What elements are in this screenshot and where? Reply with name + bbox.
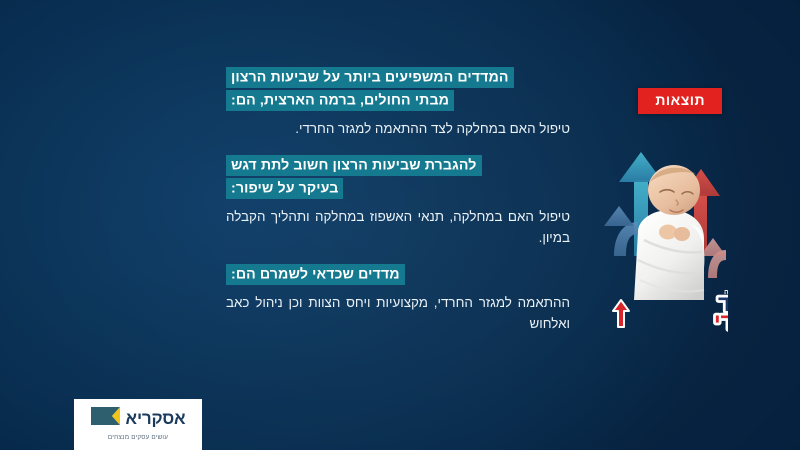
heading-highlight-line: המדדים המשפיעים ביותר על שביעות הרצון [226,67,514,88]
section-body: ההתאמה למגזר החרדי, מקצועיות ויחס הצוות … [226,293,570,334]
section-block: להגברת שביעות הרצון חשוב לתת דגש בעיקר ע… [226,154,570,248]
askaria-tagline: עושים עסקים מנצחים [108,435,168,441]
section-block: המדדים המשפיעים ביותר על שביעות הרצון מב… [226,66,570,139]
baby-arrows-artwork [586,128,744,300]
section-body: טיפול האם במחלקה לצד ההתאמה למגזר החרדי. [226,119,570,139]
section-heading: להגברת שביעות הרצון חשוב לתת דגש בעיקר ע… [226,154,570,200]
heading-highlight-line: מדדים שכדאי לשמרם הם: [226,264,405,285]
svg-text:החרדי: החרדי [714,309,728,333]
section-block: מדדים שכדאי לשמרם הם: ההתאמה למגזר החרדי… [226,263,570,334]
content-column: המדדים המשפיעים ביותר על שביעות הרצון מב… [226,66,570,334]
results-badge: תוצאות [638,88,722,114]
askaria-mark-icon [91,406,121,432]
heading-highlight-line: מבתי החולים, ברמה הארצית, הם: [226,90,454,111]
heading-highlight-line: להגברת שביעות הרצון חשוב לתת דגש [226,155,482,176]
logo-arrow-up-icon [613,300,629,327]
section-heading: המדדים המשפיעים ביותר על שביעות הרצון מב… [226,66,570,112]
heading-highlight-line: בעיקר על שיפור: [226,178,343,199]
section-heading: מדדים שכדאי לשמרם הם: [226,263,570,286]
section-body: טיפול האם במחלקה, תנאי האשפוז במחלקה ותה… [226,207,570,248]
haredi-index-logo: מדד לידה המדד המדד החרדי החרדי [594,283,728,333]
arrow-curve-blue [604,206,638,256]
askaria-logo: אסקריא עושים עסקים מנצחים [74,399,202,450]
slide-canvas: המדדים המשפיעים ביותר על שביעות הרצון מב… [0,0,800,450]
askaria-name: אסקריא [126,410,186,427]
brand-word-bottom: החרדי החרדי [714,309,728,333]
